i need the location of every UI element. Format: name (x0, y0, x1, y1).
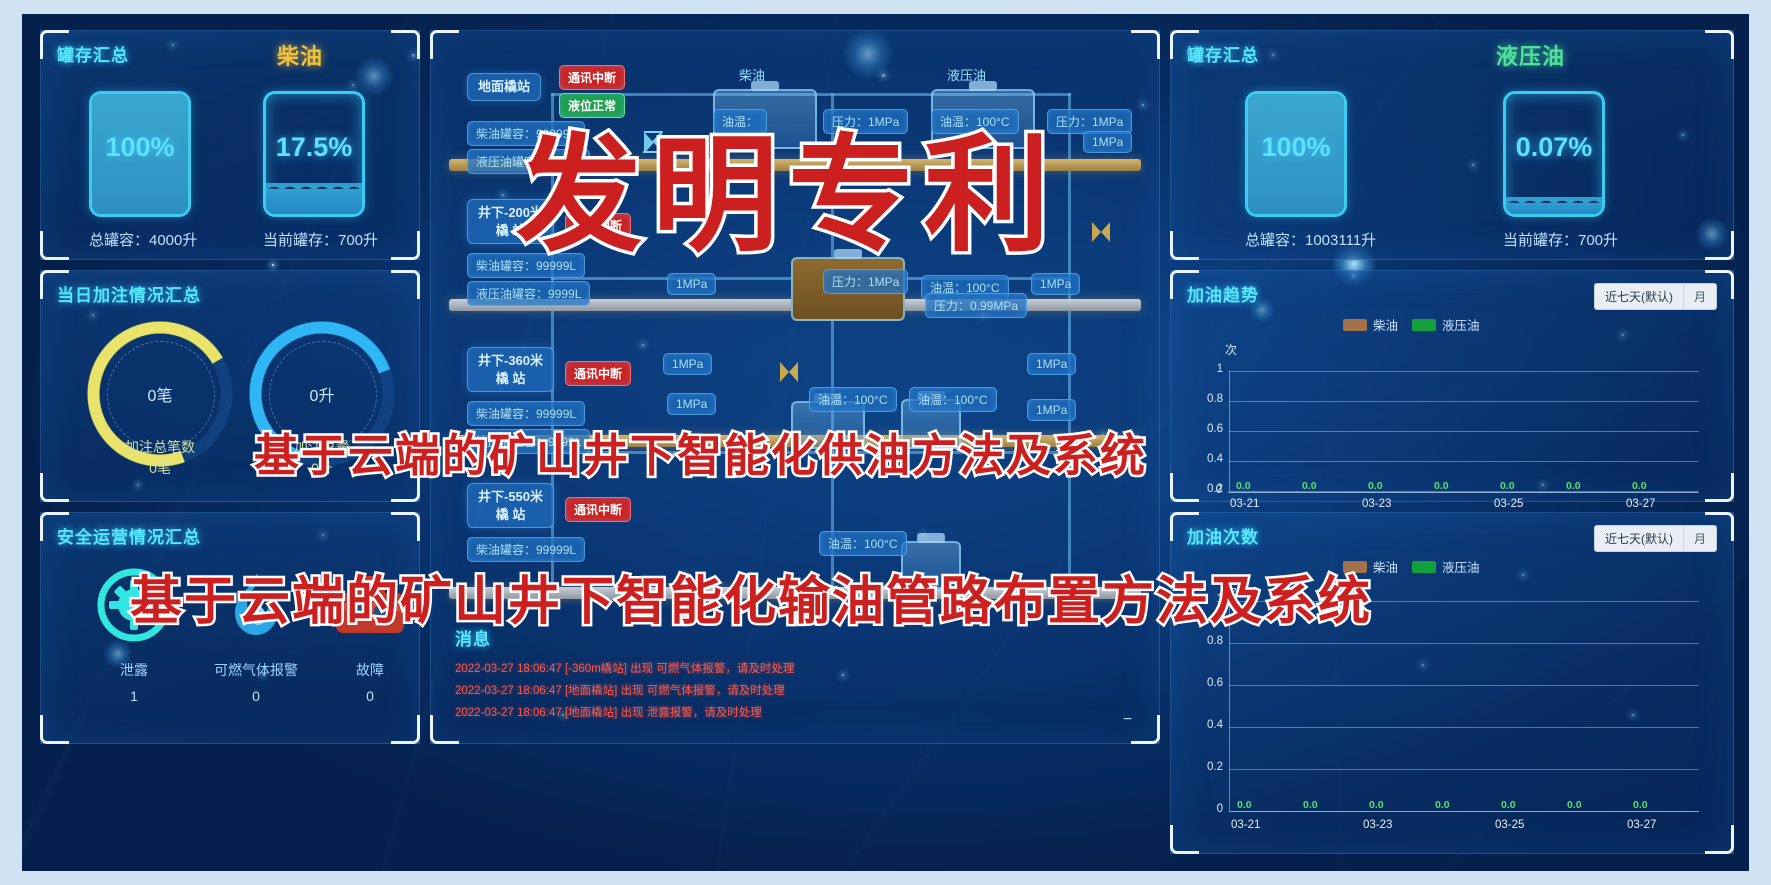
corner-decor (40, 715, 69, 744)
y-tick: 0.2 (1189, 761, 1223, 773)
station-minus550-comm-status: 通讯中断 (565, 497, 631, 522)
grid-line (1229, 685, 1699, 686)
x-tick: 03-21 (1231, 819, 1260, 831)
grid-line (1229, 461, 1699, 462)
panel-chart-trend: 加油趋势 近七天(默认) 月 柴油 液压油 次 1 0.8 0.6 (1170, 270, 1734, 502)
corner-decor (1131, 30, 1160, 59)
point-label: 0.0 (1632, 480, 1647, 492)
safety-label: 故障 (323, 660, 417, 680)
pressure-chip-2: 1MPa (1031, 273, 1080, 295)
tank-percent-label: 100% (1248, 132, 1344, 163)
readout-pressure-4: 压力：0.99MPa (925, 293, 1027, 318)
y-tick: 0 (1189, 803, 1223, 815)
corner-decor (40, 473, 69, 502)
chart-y-unit-trend: 次 (1225, 341, 1237, 358)
safety-value: 1 (79, 688, 189, 704)
x-axis-line (1229, 811, 1699, 812)
tank-shape: 17.5% (263, 91, 365, 217)
watermark-line-2: 基于云端的矿山井下智能化输油管路布置方法及系统 (130, 559, 1372, 634)
point-label: 0.0 (1303, 799, 1318, 811)
point-label: 0.0 (1501, 799, 1516, 811)
x-tick: 03-25 (1495, 819, 1524, 831)
product-name-diesel: 柴油 (277, 39, 323, 71)
tank-shape: 0.07% (1503, 91, 1605, 217)
tank-percent-label: 100% (92, 132, 188, 163)
tank-wave (1506, 197, 1602, 209)
x-tick: 03-23 (1362, 498, 1391, 510)
point-label: 0.0 (1566, 480, 1581, 492)
corner-decor (391, 715, 420, 744)
gauge-hydraulic-current: 0.07% 当前罐存：700升 (1503, 91, 1618, 250)
station-minus550[interactable]: 井下-550米 橇 站 (467, 483, 554, 528)
point-label: 0.0 (1633, 799, 1648, 811)
product-name-hydraulic: 液压油 (1496, 39, 1565, 71)
panel-title-today-refuel: 当日加注情况汇总 (57, 281, 201, 306)
pressure-chip-1: 1MPa (667, 273, 716, 295)
gauge-diesel-total: 100% 总罐容：4000升 (89, 91, 197, 250)
schematic-label-diesel: 柴油 (739, 65, 765, 84)
y-tick: 0.8 (1189, 393, 1223, 405)
corner-decor (391, 30, 420, 59)
corner-decor (391, 270, 420, 299)
point-label: 0.0 (1567, 799, 1582, 811)
x-tick: 03-27 (1627, 819, 1656, 831)
pressure-chip-0: 1MPa (1083, 131, 1132, 153)
panel-title-safety: 安全运营情况汇总 (57, 523, 201, 548)
point-label: 0.0 (1237, 799, 1252, 811)
station-name-line2: 橇 站 (478, 506, 543, 524)
corner-decor (1705, 30, 1734, 59)
zoom-out-button[interactable]: − (1123, 711, 1132, 729)
corner-decor (1705, 231, 1734, 260)
tank-total-capacity-label: 总罐容：1003111升 (1245, 229, 1376, 250)
x-axis-line (1228, 492, 1698, 493)
station-minus360-comm-status: 通讯中断 (565, 361, 631, 386)
safety-value: 0 (323, 688, 417, 704)
caption-line2: 0笔 (97, 458, 223, 479)
panel-title-diesel-stock: 罐存汇总 (57, 41, 129, 66)
station-minus200-tank-hydraulic: 液压油罐容：9999L (467, 281, 590, 306)
pressure-chip-4: 1MPa (1027, 353, 1076, 375)
message-line: 2022-03-27 18:06:47 [地面橇站] 出现 可燃气体报警，请及时… (455, 682, 1125, 698)
readout-oil-temp-5: 油温：100°C (909, 387, 997, 412)
panel-title-hydraulic-stock: 罐存汇总 (1187, 41, 1259, 66)
tank-current-stock-label: 当前罐存：700升 (263, 229, 378, 250)
station-ground-comm-status: 通讯中断 (559, 65, 625, 90)
valve-icon (1091, 221, 1111, 248)
tank-shape: 100% (89, 91, 191, 217)
screenshot-root: 罐存汇总 柴油 100% 总罐容：4000升 17.5% 当前罐存：700升 (0, 0, 1771, 885)
corner-decor (391, 512, 420, 541)
tank-total-capacity-label: 总罐容：4000升 (89, 229, 197, 250)
dashboard: 罐存汇总 柴油 100% 总罐容：4000升 17.5% 当前罐存：700升 (22, 14, 1749, 871)
corner-decor (40, 231, 69, 260)
y-tick: 0.6 (1189, 677, 1223, 689)
y-axis (1229, 371, 1230, 491)
grid-line (1229, 431, 1699, 432)
point-label: 0.0 (1302, 480, 1317, 492)
station-name-line1: 井下-360米 (478, 352, 543, 370)
tank-fill (266, 189, 362, 214)
corner-decor (430, 30, 459, 59)
station-name-line1: 井下-550米 (478, 488, 543, 506)
y-tick-zero: 0 (1188, 484, 1222, 496)
tank-wave (266, 183, 362, 195)
safety-label: 可燃气体报警 (191, 660, 321, 680)
station-name-line2: 橇 站 (478, 370, 543, 388)
caption-refuel-count: 加注总笔数 0笔 (97, 437, 223, 479)
point-label: 0.0 (1500, 480, 1515, 492)
tank-shape: 100% (1245, 91, 1347, 217)
caption-line1: 加注总笔数 (97, 437, 223, 458)
message-log: 消息 2022-03-27 18:06:47 [-360m橇站] 出现 可燃气体… (455, 625, 1125, 726)
point-label: 0.0 (1236, 480, 1251, 492)
grid-line (1229, 643, 1699, 644)
pressure-chip-5: 1MPa (667, 393, 716, 415)
safety-label: 泄露 (79, 660, 189, 680)
chart-trend: 次 1 0.8 0.6 0.4 0.2 (1171, 271, 1733, 501)
gauge-value: 0升 (247, 382, 397, 406)
x-tick: 03-23 (1363, 819, 1392, 831)
x-tick: 03-25 (1494, 498, 1523, 510)
panel-hydraulic-stock: 罐存汇总 液压油 100% 总罐容：1003111升 0.07% 当前罐存：70… (1170, 30, 1734, 260)
point-label: 0.0 (1434, 480, 1449, 492)
gauge-diesel-current: 17.5% 当前罐存：700升 (263, 91, 378, 250)
watermark-title: 发明专利 (516, 94, 1060, 276)
valve-icon (779, 361, 799, 388)
panel-diesel-stock: 罐存汇总 柴油 100% 总罐容：4000升 17.5% 当前罐存：700升 (40, 30, 420, 260)
x-tick: 03-21 (1230, 498, 1259, 510)
watermark-line-1: 基于云端的矿山井下智能化供油方法及系统 (254, 419, 1147, 484)
y-tick: 0.4 (1189, 719, 1223, 731)
message-line: 2022-03-27 18:06:47 [-360m橇站] 出现 可燃气体报警，… (455, 660, 1125, 676)
point-label: 0.0 (1369, 799, 1384, 811)
grid-line (1229, 769, 1699, 770)
corner-decor (391, 231, 420, 260)
grid-line (1229, 727, 1699, 728)
readout-oil-temp-4: 油温：100°C (809, 387, 897, 412)
grid-line (1229, 401, 1699, 402)
tank-percent-label: 17.5% (266, 132, 362, 163)
x-tick: 03-27 (1626, 498, 1655, 510)
station-minus360[interactable]: 井下-360米 橇 站 (467, 347, 554, 392)
tank-current-stock-label: 当前罐存：700升 (1503, 229, 1618, 250)
schematic-label-hydraulic: 液压油 (947, 65, 986, 84)
grid-line (1229, 371, 1699, 372)
y-tick: 0.6 (1189, 423, 1223, 435)
corner-decor (1131, 715, 1160, 744)
point-label: 0.0 (1435, 799, 1450, 811)
tank-cap (917, 533, 945, 543)
safety-value: 0 (191, 688, 321, 704)
y-tick: 1 (1189, 363, 1223, 375)
tank-fill (1506, 203, 1602, 214)
corner-decor (1170, 231, 1199, 260)
point-label: 0.0 (1368, 480, 1383, 492)
gauge-hydraulic-total: 100% 总罐容：1003111升 (1245, 91, 1376, 250)
readout-oil-temp-6: 油温：100°C (819, 531, 907, 556)
tank-percent-label: 0.07% (1506, 132, 1602, 163)
y-tick: 0.8 (1189, 635, 1223, 647)
message-line: 2022-03-27 18:06:47 [地面橇站] 出现 泄露报警，请及时处理 (455, 704, 1125, 720)
gauge-value: 0笔 (85, 382, 235, 406)
y-tick: 0.4 (1189, 453, 1223, 465)
pressure-chip-6: 1MPa (1027, 399, 1076, 421)
pressure-chip-3: 1MPa (663, 353, 712, 375)
